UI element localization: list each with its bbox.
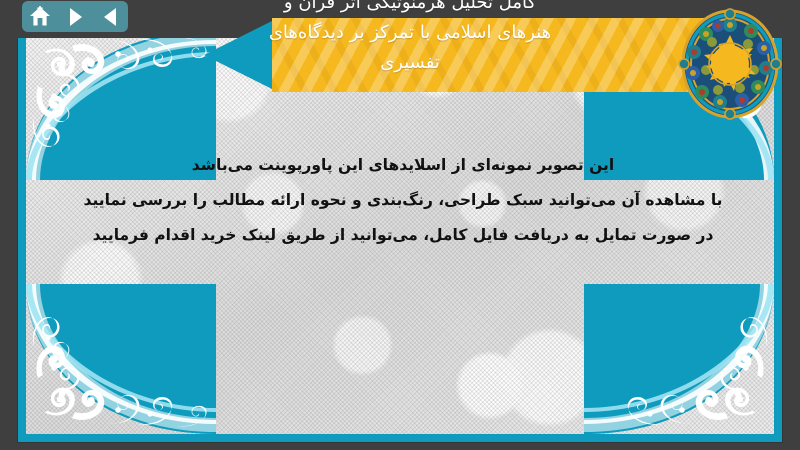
- triangle-right-icon: [67, 7, 84, 27]
- slide-viewer: این تصویر نمونه‌ای از اسلایدهای این پاور…: [0, 0, 800, 450]
- arabesque-corner-bottom-left-icon: [26, 284, 216, 434]
- body-line-1: این تصویر نمونه‌ای از اسلایدهای این پاور…: [66, 148, 740, 183]
- body-line-2: با مشاهده آن می‌توانید سبک طراحی، رنگ‌بن…: [66, 183, 740, 218]
- home-button[interactable]: [26, 4, 54, 30]
- slide-title: کامل تحلیل هرمنوتیکی اثر قرآن و هنرهای ا…: [150, 0, 670, 78]
- slide-body-text: این تصویر نمونه‌ای از اسلایدهای این پاور…: [66, 148, 740, 253]
- back-button[interactable]: [96, 4, 124, 30]
- body-line-3: در صورت تمایل به دریافت فایل کامل، می‌تو…: [66, 218, 740, 253]
- triangle-left-icon: [102, 7, 119, 27]
- home-icon: [29, 6, 51, 27]
- arabesque-corner-bottom-right-icon: [584, 284, 774, 434]
- navigation-bar: [22, 1, 128, 32]
- islamic-medallion-icon: [678, 8, 782, 120]
- forward-button[interactable]: [61, 4, 89, 30]
